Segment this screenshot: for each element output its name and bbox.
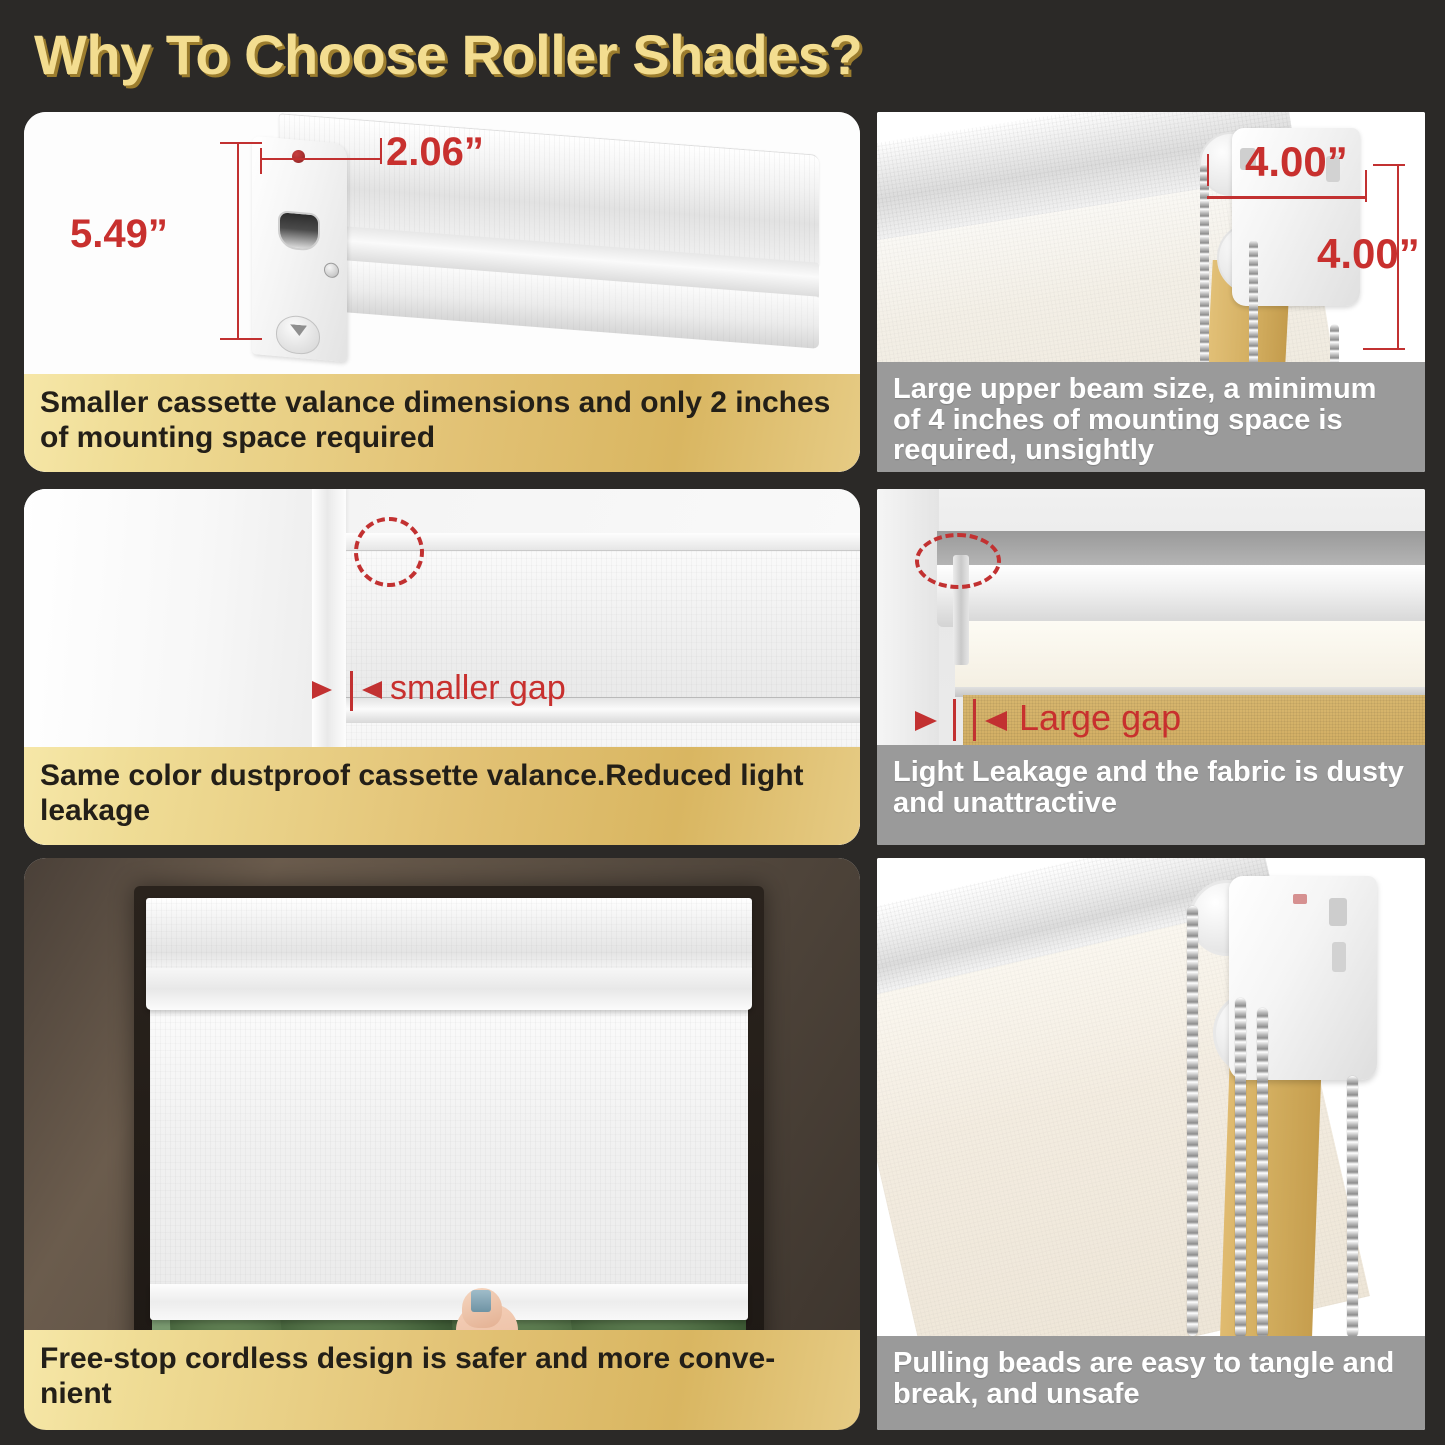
- panel-smaller-gap: smaller gap Same color dustproof cassett…: [24, 489, 860, 845]
- beam-height-tick-top: [1373, 164, 1405, 166]
- large-gap-arrow-right-icon: [985, 711, 1007, 731]
- height-dim-line: [237, 142, 239, 340]
- gap-marker-line: [350, 671, 353, 711]
- width-dim-tick-right: [380, 138, 382, 164]
- height-dim-tick-top: [220, 142, 262, 144]
- bracket-red-dot-icon: [1293, 894, 1307, 904]
- panel-cordless-design: Free-stop cordless design is safer and m…: [24, 858, 860, 1430]
- shade-cassette-lip: [146, 968, 752, 1010]
- window-frame: [134, 886, 764, 1391]
- highlight-circle-gap: [354, 517, 424, 587]
- bead-chain-strand-1: [1187, 906, 1198, 1336]
- panel-cassette-dimensions: 2.06” 5.49” Smaller cassette valance dim…: [24, 112, 860, 472]
- end-cap-knob-icon: [276, 314, 320, 356]
- gap-arrow-right-icon: [362, 681, 382, 699]
- highlight-circle-large-gap: [915, 533, 1001, 589]
- panel-bead-chain: Pulling beads are easy to tangle and bre…: [877, 858, 1425, 1430]
- gap-label-smaller: smaller gap: [390, 669, 566, 708]
- caption-cassette-dimensions: Smaller cassette valance dimensions and …: [24, 374, 860, 472]
- shade-bottom-bar: [150, 1284, 748, 1320]
- beam-height-label: 4.00”: [1317, 230, 1420, 278]
- shade-pull-tab: [471, 1290, 491, 1312]
- valance-end-cap: [252, 136, 347, 362]
- comparison-grid: 2.06” 5.49” Smaller cassette valance dim…: [0, 0, 1445, 1445]
- beam-width-tick-left: [1207, 154, 1209, 186]
- height-dim-tick-bot: [220, 338, 262, 340]
- width-dim-tick-left: [260, 148, 262, 174]
- panel-large-beam: 4.00” 4.00” Large upper beam size, a min…: [877, 112, 1425, 472]
- large-gap-line-1: [953, 699, 956, 741]
- caption-large-beam: Large upper beam size, a minimum of 4 in…: [877, 362, 1425, 472]
- caption-bead-chain: Pulling beads are easy to tangle and bre…: [877, 1336, 1425, 1430]
- bracket-slot-upper-icon: [1329, 898, 1347, 926]
- caption-cordless-design: Free-stop cordless design is safer and m…: [24, 1330, 860, 1430]
- width-dim-label: 2.06”: [386, 130, 484, 175]
- end-cap-screw-icon: [324, 262, 339, 278]
- beam-width-label: 4.00”: [1245, 138, 1348, 186]
- panel-large-gap: Large gap Light Leakage and the fabric i…: [877, 489, 1425, 845]
- beam-width-tick-right: [1365, 170, 1367, 202]
- red-screw-marker-icon: [292, 150, 305, 163]
- shade-fabric-drop: [150, 1006, 748, 1296]
- large-gap-arrow-left-icon: [915, 711, 937, 731]
- bracket-slot-lower-icon: [1332, 942, 1346, 972]
- competitor-fabric-cream: [955, 621, 1425, 689]
- beam-width-line: [1207, 196, 1367, 199]
- caption-large-gap: Light Leakage and the fabric is dusty an…: [877, 745, 1425, 845]
- bead-chain-strand-2: [1235, 998, 1246, 1338]
- large-gap-line-2: [973, 699, 976, 741]
- bead-chain-strand-3: [1257, 1008, 1268, 1338]
- caption-smaller-gap: Same color dustproof cassette valance.Re…: [24, 747, 860, 845]
- bead-mounting-bracket: [1229, 876, 1377, 1080]
- ceiling-shadow-band: [937, 531, 1425, 569]
- beam-height-tick-bot: [1363, 348, 1405, 350]
- end-cap-slot-icon: [278, 210, 320, 252]
- bead-chain-strand-4: [1347, 1076, 1358, 1338]
- gap-label-large: Large gap: [1019, 697, 1181, 739]
- gap-arrow-left-icon: [312, 681, 332, 699]
- cassette-valance-body: [279, 113, 819, 370]
- competitor-roller-tube: [937, 565, 1425, 627]
- shade-cassette-valance: [146, 898, 752, 974]
- width-dim-line: [260, 158, 382, 160]
- height-dim-label: 5.49”: [70, 212, 168, 257]
